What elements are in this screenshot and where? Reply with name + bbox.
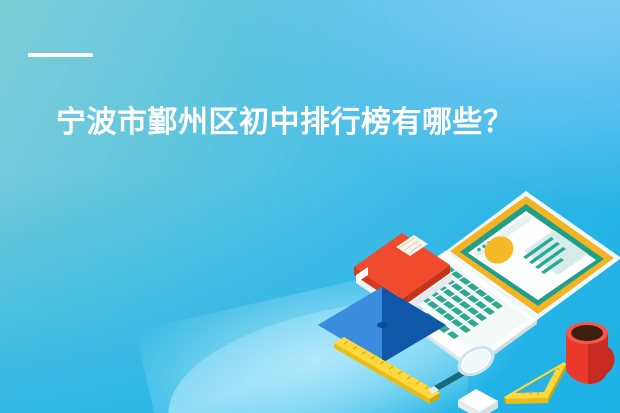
eraser-icon xyxy=(458,389,498,413)
title-accent-rule xyxy=(28,53,93,57)
promo-banner: 宁波市鄞州区初中排行榜有哪些？ xyxy=(0,0,620,413)
study-desk-illustration xyxy=(318,185,620,413)
page-title: 宁波市鄞州区初中排行榜有哪些？ xyxy=(56,104,514,142)
triangle-ruler-icon xyxy=(504,362,566,404)
coffee-mug-icon xyxy=(566,322,615,384)
